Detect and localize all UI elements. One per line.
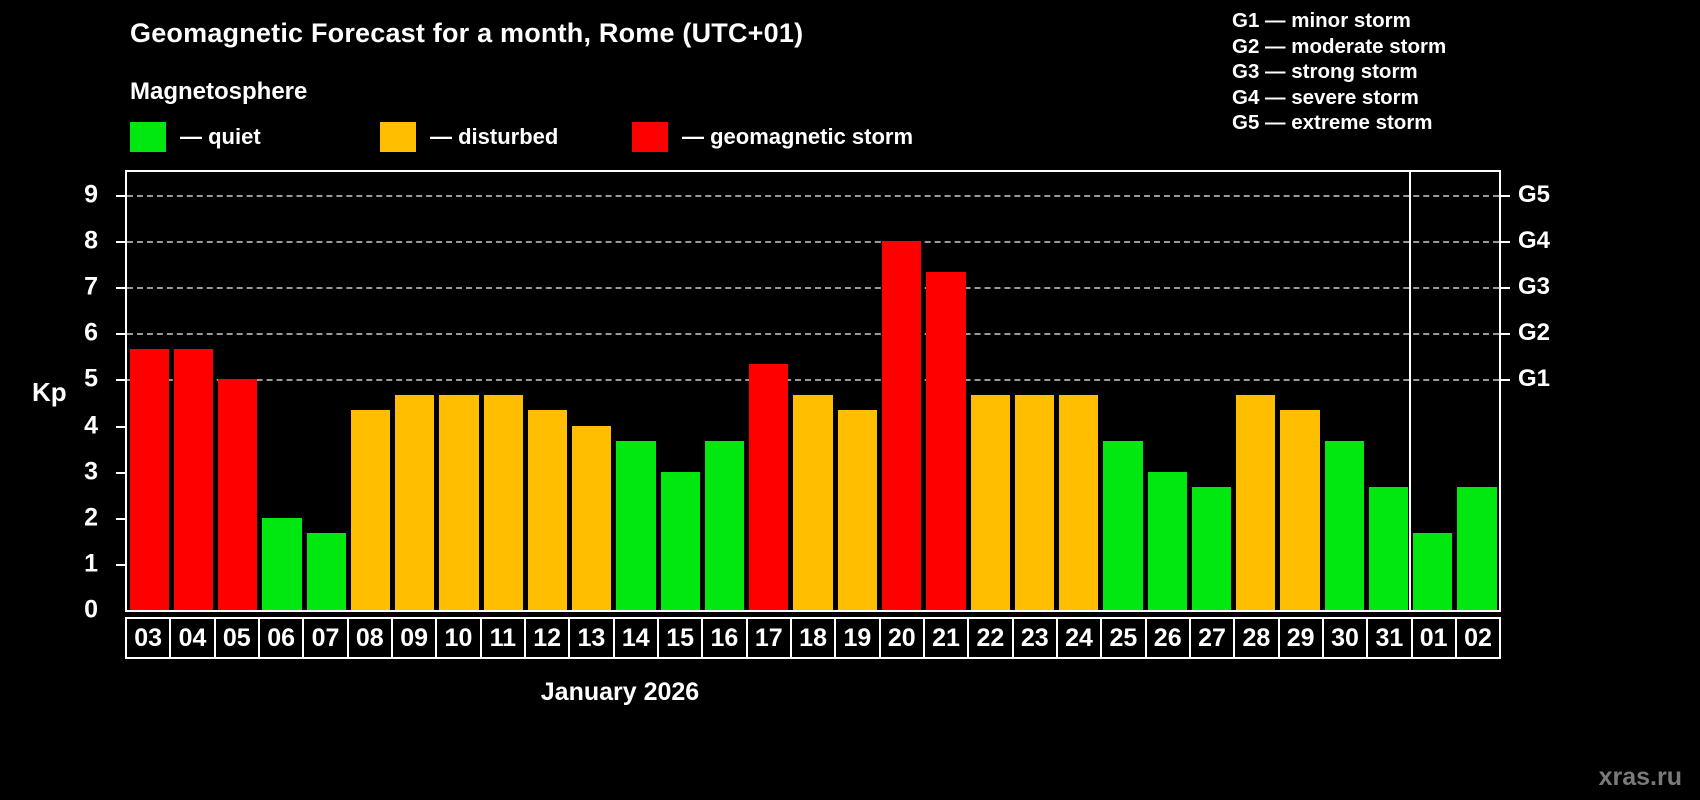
bar-day-05 [218, 379, 257, 610]
g-tick-label-G3: G3 [1518, 273, 1578, 301]
bar-day-28 [1236, 395, 1275, 610]
day-label-08: 08 [349, 619, 393, 657]
day-label-18: 18 [792, 619, 836, 657]
day-label-28: 28 [1235, 619, 1279, 657]
day-label-11: 11 [482, 619, 526, 657]
y-tick-label-2: 2 [38, 503, 98, 532]
y-tick-label-3: 3 [38, 457, 98, 486]
bar-slot-30 [1322, 172, 1366, 610]
y-tick-mark-1 [116, 564, 125, 566]
y-tick-mark-3 [116, 472, 125, 474]
bar-day-22 [971, 395, 1010, 610]
day-label-21: 21 [925, 619, 969, 657]
bar-day-02 [1457, 487, 1496, 610]
bar-day-20 [882, 241, 921, 610]
bar-day-10 [439, 395, 478, 610]
bar-slot-18 [791, 172, 835, 610]
g-tick-mark-G3 [1501, 287, 1510, 289]
bar-slot-15 [658, 172, 702, 610]
g-tick-label-G2: G2 [1518, 319, 1578, 347]
bar-slot-26 [1145, 172, 1189, 610]
day-label-13: 13 [570, 619, 614, 657]
day-label-09: 09 [393, 619, 437, 657]
day-label-23: 23 [1014, 619, 1058, 657]
bar-day-14 [616, 441, 655, 610]
bar-day-13 [572, 426, 611, 610]
bar-day-15 [661, 472, 700, 610]
bar-slot-09 [393, 172, 437, 610]
y-tick-label-9: 9 [38, 181, 98, 210]
bar-slot-14 [614, 172, 658, 610]
bar-slot-25 [1101, 172, 1145, 610]
y-tick-label-0: 0 [38, 596, 98, 625]
y-tick-label-6: 6 [38, 319, 98, 348]
bar-day-12 [528, 410, 567, 610]
y-tick-label-4: 4 [38, 411, 98, 440]
day-label-22: 22 [969, 619, 1013, 657]
bar-slot-05 [216, 172, 260, 610]
g-tick-label-G1: G1 [1518, 365, 1578, 393]
bar-slot-19 [835, 172, 879, 610]
day-label-20: 20 [881, 619, 925, 657]
bar-slot-24 [1057, 172, 1101, 610]
bar-day-25 [1103, 441, 1142, 610]
day-label-31: 31 [1368, 619, 1412, 657]
bar-series [127, 172, 1499, 610]
bar-slot-10 [437, 172, 481, 610]
g-tick-mark-G1 [1501, 379, 1510, 381]
bar-slot-21 [924, 172, 968, 610]
bar-day-04 [174, 349, 213, 610]
day-label-19: 19 [836, 619, 880, 657]
bar-day-09 [395, 395, 434, 610]
bar-slot-28 [1234, 172, 1278, 610]
g-tick-mark-G2 [1501, 333, 1510, 335]
bar-slot-22 [968, 172, 1012, 610]
day-label-10: 10 [437, 619, 481, 657]
y-tick-mark-9 [116, 195, 125, 197]
day-label-15: 15 [659, 619, 703, 657]
y-tick-mark-6 [116, 333, 125, 335]
bar-day-21 [926, 272, 965, 610]
bar-slot-20 [880, 172, 924, 610]
day-label-16: 16 [703, 619, 747, 657]
y-axis-title: Kp [32, 377, 67, 408]
bar-day-06 [262, 518, 301, 610]
y-tick-mark-8 [116, 241, 125, 243]
day-label-12: 12 [526, 619, 570, 657]
day-label-04: 04 [171, 619, 215, 657]
bar-slot-27 [1189, 172, 1233, 610]
y-tick-label-1: 1 [38, 549, 98, 578]
bar-day-01 [1413, 533, 1452, 610]
day-label-24: 24 [1058, 619, 1102, 657]
bar-day-27 [1192, 487, 1231, 610]
bar-slot-12 [525, 172, 569, 610]
day-label-05: 05 [216, 619, 260, 657]
day-label-01: 01 [1413, 619, 1457, 657]
day-label-07: 07 [304, 619, 348, 657]
y-tick-mark-2 [116, 518, 125, 520]
g-tick-label-G5: G5 [1518, 181, 1578, 209]
bar-day-17 [749, 364, 788, 610]
bar-slot-01 [1411, 172, 1455, 610]
bar-day-23 [1015, 395, 1054, 610]
day-label-26: 26 [1147, 619, 1191, 657]
bar-slot-07 [304, 172, 348, 610]
watermark: xras.ru [1599, 763, 1682, 792]
bar-day-18 [793, 395, 832, 610]
y-tick-label-7: 7 [38, 273, 98, 302]
bar-slot-08 [348, 172, 392, 610]
plot-inner [127, 172, 1499, 610]
bar-slot-13 [570, 172, 614, 610]
day-label-06: 06 [260, 619, 304, 657]
bar-day-30 [1325, 441, 1364, 610]
day-label-25: 25 [1102, 619, 1146, 657]
bar-day-29 [1280, 410, 1319, 610]
y-tick-mark-7 [116, 287, 125, 289]
g-tick-label-G4: G4 [1518, 227, 1578, 255]
y-tick-mark-4 [116, 426, 125, 428]
bar-slot-03 [127, 172, 171, 610]
bar-day-07 [307, 533, 346, 610]
bar-slot-16 [702, 172, 746, 610]
plot-frame [125, 170, 1501, 612]
day-axis: 0304050607080910111213141516171819202122… [125, 617, 1501, 659]
bar-day-26 [1148, 472, 1187, 610]
bar-day-16 [705, 441, 744, 610]
day-label-02: 02 [1457, 619, 1499, 657]
bar-day-19 [838, 410, 877, 610]
bar-day-08 [351, 410, 390, 610]
bar-slot-17 [747, 172, 791, 610]
day-label-17: 17 [748, 619, 792, 657]
x-axis-title: January 2026 [0, 678, 1240, 707]
y-tick-mark-5 [116, 379, 125, 381]
bar-slot-04 [171, 172, 215, 610]
bar-day-24 [1059, 395, 1098, 610]
bar-slot-02 [1455, 172, 1499, 610]
bar-day-03 [130, 349, 169, 610]
g-tick-mark-G4 [1501, 241, 1510, 243]
day-label-14: 14 [615, 619, 659, 657]
bar-slot-29 [1278, 172, 1322, 610]
day-label-03: 03 [127, 619, 171, 657]
g-tick-mark-G5 [1501, 195, 1510, 197]
bar-slot-23 [1012, 172, 1056, 610]
day-label-29: 29 [1280, 619, 1324, 657]
bar-slot-11 [481, 172, 525, 610]
day-label-27: 27 [1191, 619, 1235, 657]
y-tick-label-8: 8 [38, 227, 98, 256]
bar-slot-06 [260, 172, 304, 610]
bar-day-31 [1369, 487, 1408, 610]
bar-slot-31 [1366, 172, 1410, 610]
bar-day-11 [484, 395, 523, 610]
day-label-30: 30 [1324, 619, 1368, 657]
